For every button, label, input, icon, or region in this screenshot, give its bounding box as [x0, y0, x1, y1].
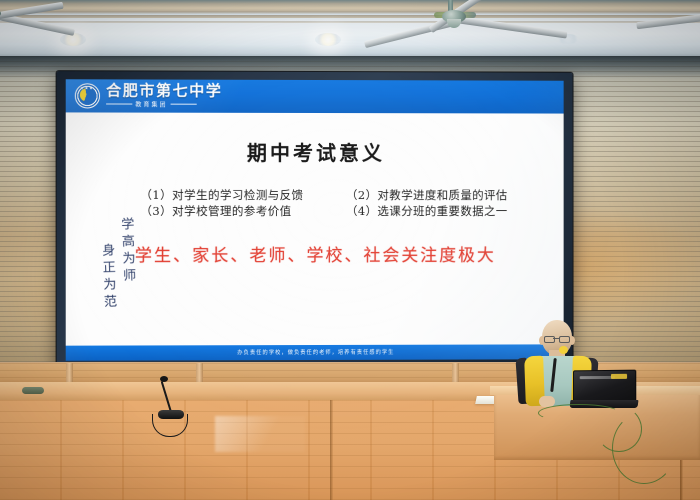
rule-right: [171, 104, 197, 105]
ceiling-fan-icon: [380, 0, 580, 52]
panel-reflection: [215, 416, 305, 452]
slide-bullet-list: （1）对学生的学习检测与反馈 （2）对教学进度和质量的评估 （3）对学校管理的参…: [140, 187, 549, 219]
power-cable: [538, 404, 620, 422]
fan-blade: [0, 2, 64, 20]
slide-header-bar: ★★★ 合肥市第七中学 教育集团: [66, 79, 564, 113]
projection-screen[interactable]: ★★★ 合肥市第七中学 教育集团 期中考试意义: [66, 79, 564, 360]
glasses-icon: [544, 336, 570, 341]
bullet-item: （3）对学校管理的参考价值: [140, 203, 346, 219]
slide-highlight-text: 学生、家长、老师、学校、社会关注度极大: [66, 241, 564, 266]
emblem-swoosh: [80, 88, 93, 101]
school-emblem-icon: ★★★: [75, 83, 100, 108]
fan-blade: [456, 16, 568, 39]
slide-title: 期中考试意义: [66, 137, 564, 167]
school-logo: ★★★ 合肥市第七中学 教育集团: [75, 83, 223, 108]
lens-right: [559, 336, 570, 343]
handheld-mic-icon: [559, 346, 568, 354]
slide-body: 期中考试意义 （1）对学生的学习检测与反馈 （2）对教学进度和质量的评估 （3）…: [66, 112, 564, 345]
desk-object: [22, 387, 44, 394]
slide-footer-bar: 办负责任的学校，做负责任的老师，培养有责任感的学生: [66, 344, 564, 360]
recessed-light-icon: [315, 33, 341, 46]
rule-left: [106, 103, 132, 104]
lecture-hall-photo: ★★★ 合肥市第七中学 教育集团 期中考试意义: [0, 0, 700, 500]
panel-seam: [330, 400, 333, 500]
laptop-hinge-strip: [580, 376, 615, 379]
ceiling-fan-icon: [636, 6, 700, 36]
glasses-bridge: [553, 338, 559, 339]
bullet-item: （4）选课分班的重要数据之一: [346, 203, 550, 219]
bullet-item: （1）对学生的学习检测与反馈: [140, 187, 346, 203]
school-logo-text: 合肥市第七中学 教育集团: [106, 83, 222, 108]
gooseneck-microphone-icon: [150, 378, 210, 430]
school-subtitle-row: 教育集团: [106, 99, 222, 108]
power-cable: [612, 412, 676, 484]
school-subtitle: 教育集团: [135, 100, 167, 109]
fan-light-kit: [447, 19, 461, 28]
ceiling-fan-icon: [0, 0, 112, 46]
mic-neck: [161, 381, 172, 412]
bullet-item: （2）对教学进度和质量的评估: [346, 187, 550, 203]
projection-screen-bezel: ★★★ 合肥市第七中学 教育集团 期中考试意义: [57, 71, 573, 369]
laptop-badge: [611, 374, 627, 379]
ceiling: [0, 0, 700, 62]
slide-footer-motto: 办负责任的学校，做负责任的老师，培养有责任感的学生: [237, 349, 394, 357]
fan-blade: [636, 12, 700, 29]
school-name: 合肥市第七中学: [106, 83, 222, 98]
mic-head: [160, 376, 168, 382]
